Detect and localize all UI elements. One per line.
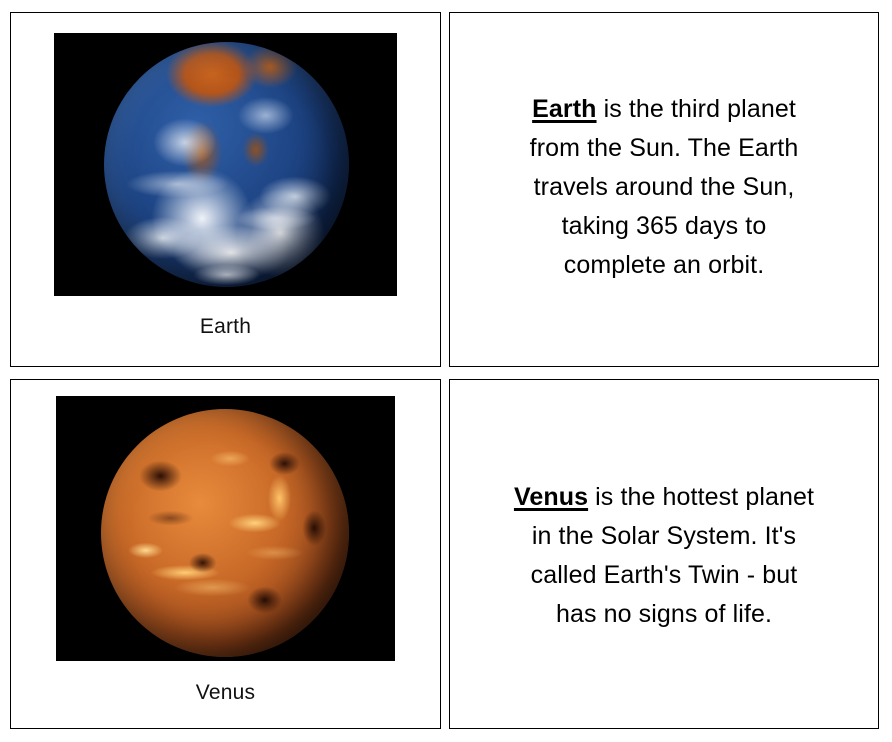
venus-photo (56, 396, 395, 661)
fact-planet-name-earth: Earth (532, 95, 596, 123)
card-sheet: Earth Earth is the third planet from the… (0, 0, 892, 742)
picture-card-earth[interactable]: Earth (10, 12, 441, 367)
fact-text-earth: Earth is the third planet from the Sun. … (514, 90, 814, 285)
earth-globe-icon (104, 42, 349, 287)
picture-card-venus[interactable]: Venus (10, 379, 441, 729)
fact-card-earth[interactable]: Earth is the third planet from the Sun. … (449, 12, 879, 367)
earth-photo (54, 33, 397, 296)
fact-text-venus: Venus is the hottest planet in the Solar… (508, 478, 820, 634)
planet-label-earth: Earth (200, 315, 251, 339)
planet-label-venus: Venus (196, 681, 255, 705)
fact-planet-name-venus: Venus (514, 483, 588, 511)
fact-card-venus[interactable]: Venus is the hottest planet in the Solar… (449, 379, 879, 729)
card-grid: Earth Earth is the third planet from the… (10, 12, 879, 729)
venus-globe-icon (101, 409, 349, 657)
